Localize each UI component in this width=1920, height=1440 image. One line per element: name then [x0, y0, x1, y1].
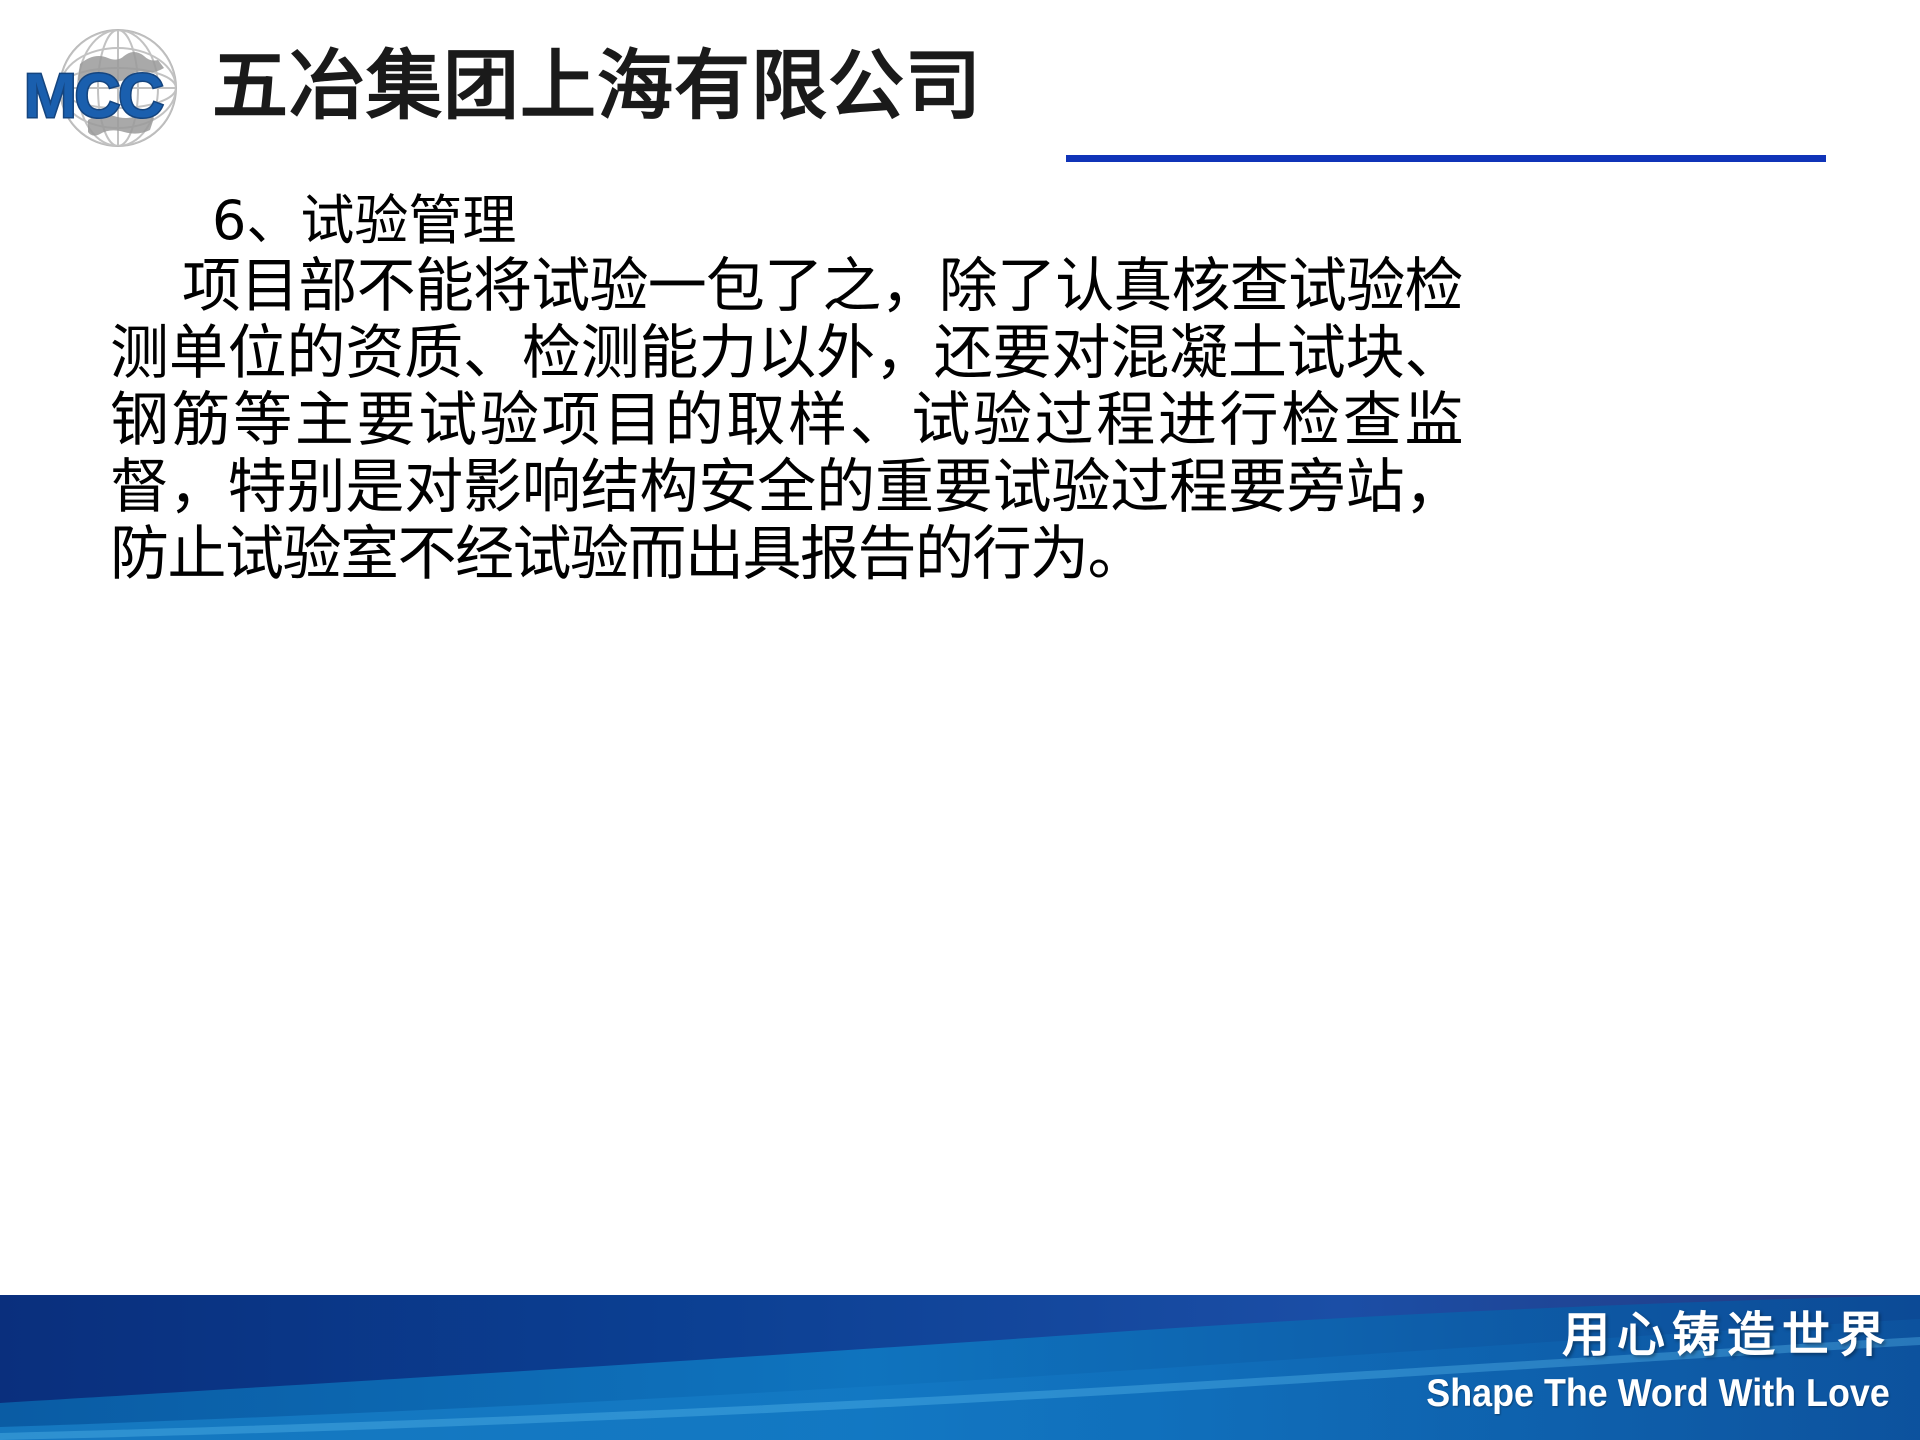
header-divider — [1066, 155, 1826, 162]
mcc-wordmark: MCC — [22, 66, 222, 128]
slogan-english: Shape The Word With Love — [1427, 1371, 1890, 1417]
body-paragraph: 项目部不能将试验一包了之，除了认真核查试验检测单位的资质、检测能力以外，还要对混… — [110, 252, 1462, 587]
company-logo: MCC — [22, 22, 218, 150]
slide-header: MCC 五冶集团上海有限公司 — [0, 0, 1920, 175]
slide-footer: 用心铸造世界 Shape The Word With Love — [0, 1295, 1920, 1440]
company-title: 五冶集团上海有限公司 — [212, 44, 982, 128]
slide: MCC 五冶集团上海有限公司 6、试验管理 项目部不能将试验一包了之，除了认真核… — [0, 0, 1920, 1440]
slogan-chinese: 用心铸造世界 — [1562, 1307, 1892, 1363]
section-heading: 6、试验管理 — [212, 190, 516, 252]
